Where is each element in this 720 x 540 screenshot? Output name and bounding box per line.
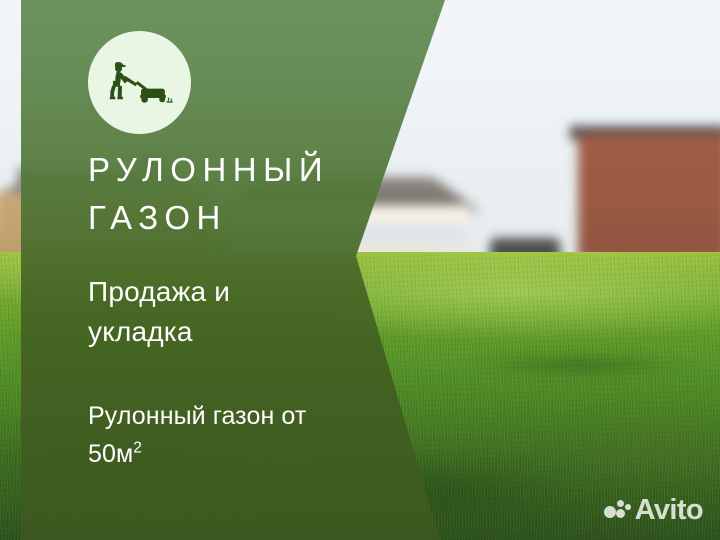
avito-logo-icon [604,500,630,522]
avito-watermark: Avito [604,496,703,525]
avito-watermark-label: Avito [635,496,703,525]
page-title: РУЛОННЫЙ ГАЗОН [88,146,418,242]
content-layer: РУЛОННЫЙ ГАЗОН Продажа и укладка Рулонны… [0,0,720,540]
advert-image: РУЛОННЫЙ ГАЗОН Продажа и укладка Рулонны… [0,0,720,540]
offer-detail-superscript: 2 [133,440,142,457]
logo-badge [88,31,191,134]
service-subtitle: Продажа и укладка [88,272,308,352]
offer-detail: Рулонный газон от 50м2 [88,397,388,473]
lawn-mower-icon [107,61,173,105]
offer-detail-text: Рулонный газон от 50м [88,402,306,468]
